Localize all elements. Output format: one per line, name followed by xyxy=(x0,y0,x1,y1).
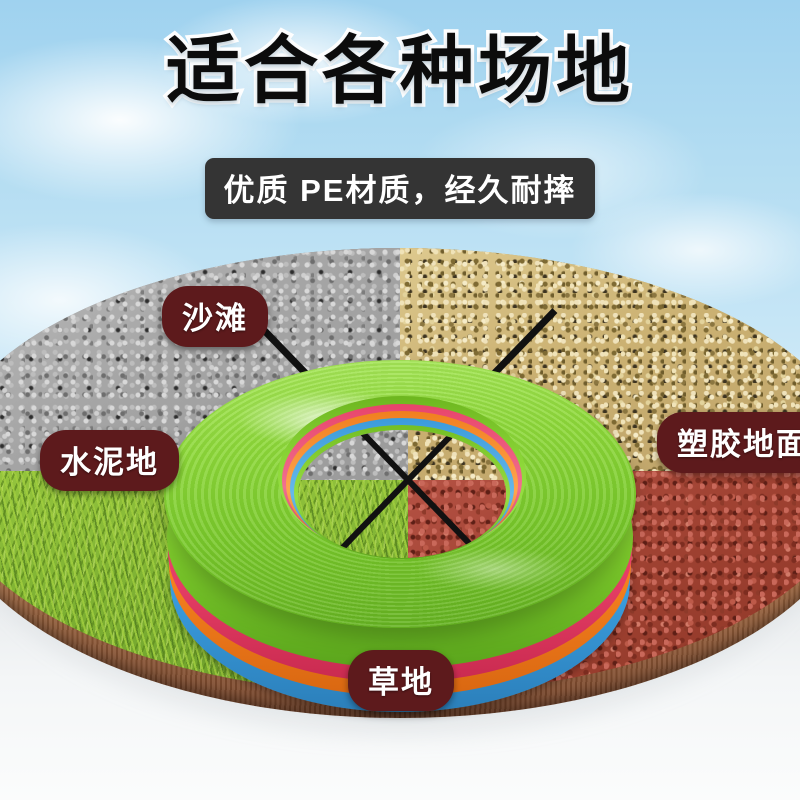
ring-inner-hole xyxy=(278,396,526,556)
page-title: 适合各种场地 xyxy=(0,34,800,108)
hole-quadrant-sand xyxy=(408,430,506,480)
surface-label-grass: 草地 xyxy=(348,650,454,711)
hole-quadrant-concrete xyxy=(298,430,408,480)
surface-label-sand: 沙滩 xyxy=(162,286,268,347)
hole-surface-preview xyxy=(298,430,506,558)
product-poster: 适合各种场地 优质 PE材质，经久耐摔 xyxy=(0,0,800,800)
surface-label-concrete: 水泥地 xyxy=(40,430,179,491)
subtitle-container: 优质 PE材质，经久耐摔 xyxy=(0,158,800,219)
subtitle-badge: 优质 PE材质，经久耐摔 xyxy=(205,158,596,219)
hole-see-through xyxy=(298,430,506,558)
surface-label-rubber: 塑胶地面 xyxy=(657,412,800,473)
product-ring xyxy=(160,300,640,640)
